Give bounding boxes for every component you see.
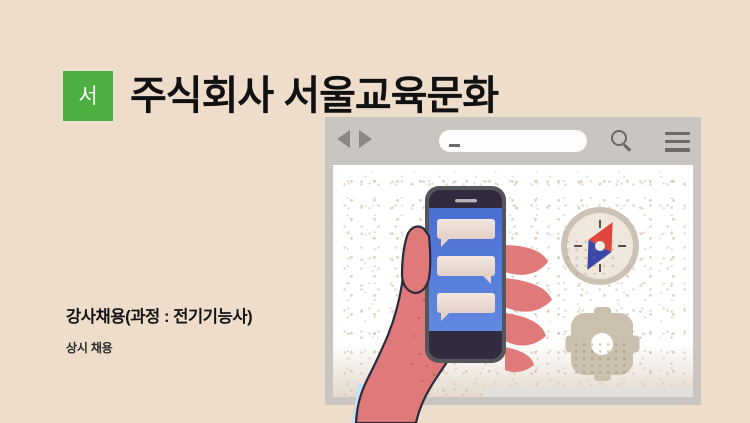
search-icon-handle [623, 143, 631, 151]
back-arrow-icon[interactable] [337, 130, 350, 148]
gear-icon [571, 313, 633, 375]
compass-icon [561, 207, 639, 285]
browser-toolbar [325, 117, 701, 165]
poster-canvas: 서 주식회사 서울교육문화 강사채용(과정 : 전기기능사) 상시 채용 [0, 0, 750, 423]
brand-logo-mark: 서 [63, 71, 113, 121]
hamburger-menu-icon[interactable] [665, 132, 690, 151]
gear-grain-texture [573, 341, 629, 375]
floor-line [483, 388, 693, 397]
job-posting-info: 강사채용(과정 : 전기기능사) 상시 채용 [66, 308, 252, 356]
search-icon[interactable] [611, 130, 634, 153]
hamburger-bar-3 [665, 148, 690, 151]
text-cursor-icon [449, 144, 460, 147]
browser-viewport [333, 165, 693, 397]
page-title: 주식회사 서울교육문화 [130, 76, 498, 116]
browser-window-mockup [325, 117, 701, 405]
job-title: 강사채용(과정 : 전기기능사) [66, 308, 252, 328]
brand-header: 서 주식회사 서울교육문화 [63, 71, 498, 121]
forward-arrow-icon[interactable] [359, 130, 372, 148]
job-status-badge: 상시 채용 [66, 339, 252, 356]
address-bar-input[interactable] [439, 130, 587, 152]
hamburger-bar-1 [665, 132, 690, 135]
hamburger-bar-2 [665, 140, 690, 143]
browser-nav-buttons [337, 130, 372, 148]
